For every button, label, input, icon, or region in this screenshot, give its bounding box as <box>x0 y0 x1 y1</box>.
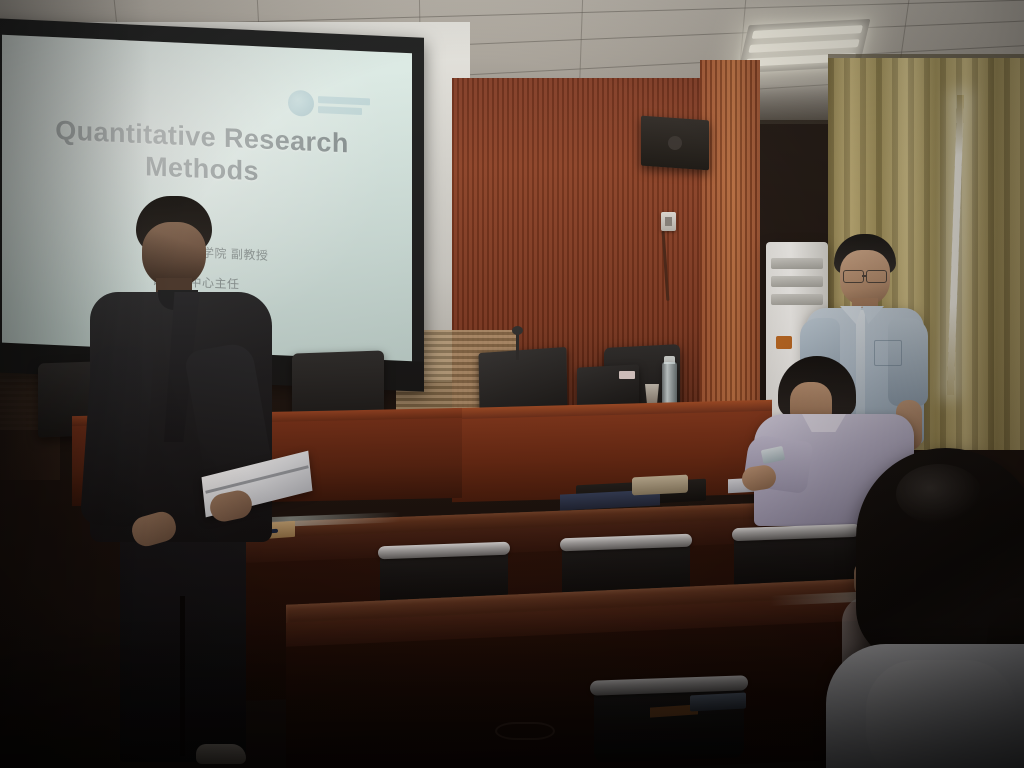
ac-control-panel[interactable] <box>776 336 792 349</box>
presenter-leg-split <box>180 596 185 756</box>
paper-cup <box>645 384 659 404</box>
folded-cloth <box>632 475 688 496</box>
laptop-sticker <box>619 371 635 379</box>
smartphone-on-desk <box>690 693 746 712</box>
fg-person-top-fold <box>866 660 1016 768</box>
wall-switch-rocker[interactable] <box>665 217 672 226</box>
eyeglasses-on-desk <box>495 722 555 740</box>
presenter-shoe <box>196 744 246 764</box>
eyeglasses-bridge <box>862 275 867 277</box>
presenter-arm-left <box>80 344 154 528</box>
presenter-reading-papers <box>84 196 274 768</box>
eyeglasses-icon <box>843 270 864 283</box>
seated-person-back-of-head <box>838 448 1024 768</box>
speaker-cone-icon <box>668 136 682 150</box>
fg-person-hair-sheen <box>896 464 982 524</box>
lecture-room-photo: Quantitative Research Methods 刚洋 工商管理学院 … <box>0 0 1024 768</box>
eyeglasses-icon <box>866 270 887 283</box>
desk-microphone-stand <box>516 332 519 360</box>
desk-microphone <box>512 326 523 335</box>
